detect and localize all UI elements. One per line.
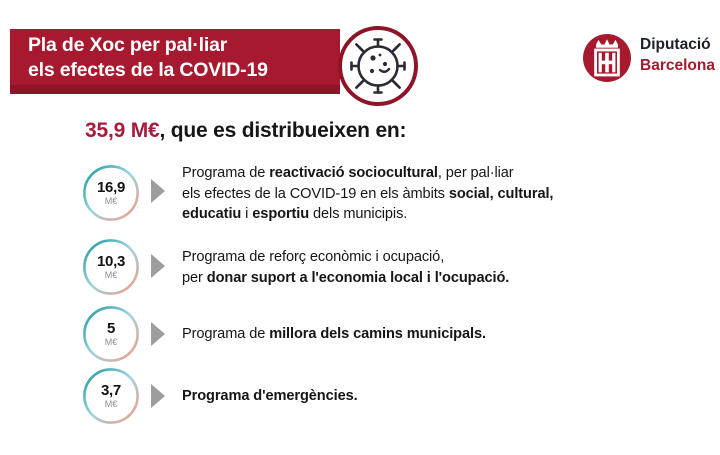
logo-line-2: Barcelona (640, 55, 715, 76)
diputacio-barcelona-logo: Diputació Barcelona (582, 32, 714, 86)
item-line: Programa de reforç econòmic i ocupació, (182, 247, 509, 268)
item-line: educatiu i esportiu dels municipis. (182, 204, 553, 225)
arrow-icon (150, 321, 166, 347)
amount-badge: 5 M€ (82, 305, 140, 363)
arrow-icon (150, 383, 166, 409)
item-line: Programa d'emergències. (182, 386, 358, 407)
item-line: els efectes de la COVID-19 en els àmbits… (182, 184, 553, 205)
amount-value: 16,9 (97, 181, 125, 195)
logo-wordmark: Diputació Barcelona (640, 34, 715, 76)
item-description: Programa de reactivació sociocultural, p… (182, 163, 553, 225)
item-line: Programa de reactivació sociocultural, p… (182, 163, 553, 184)
item-description: Programa de reforç econòmic i ocupació, … (182, 247, 509, 288)
header: Pla de Xoc per pal·liar els efectes de l… (0, 0, 720, 112)
item-description: Programa de millora dels camins municipa… (182, 324, 486, 345)
total-amount: 35,9 M€ (85, 119, 159, 142)
item-line: Programa de millora dels camins municipa… (182, 324, 486, 345)
amount-unit: M€ (105, 196, 118, 206)
logo-line-1: Diputació (640, 34, 715, 55)
item-line: per donar suport a l'economia local i l'… (182, 268, 509, 289)
page-title: Pla de Xoc per pal·liar els efectes de l… (28, 33, 338, 83)
amount-badge: 16,9 M€ (82, 164, 140, 222)
diputacio-barcelona-crest (582, 33, 632, 83)
amount-badge: 10,3 M€ (82, 238, 140, 296)
amount-unit: M€ (105, 399, 118, 409)
amount-value: 3,7 (101, 384, 121, 398)
amount-unit: M€ (105, 270, 118, 280)
title-banner-shadow (10, 85, 340, 94)
amount-value: 10,3 (97, 255, 125, 269)
arrow-icon (150, 178, 166, 204)
coronavirus-icon (336, 24, 420, 108)
amount-unit: M€ (105, 337, 118, 347)
amount-badge: 3,7 M€ (82, 367, 140, 425)
arrow-icon (150, 253, 166, 279)
total-headline-rest: , que es distribueixen en: (159, 119, 406, 142)
amount-value: 5 (107, 322, 115, 336)
total-headline: 35,9 M€, que es distribueixen en: (85, 119, 406, 143)
item-description: Programa d'emergències. (182, 386, 358, 407)
